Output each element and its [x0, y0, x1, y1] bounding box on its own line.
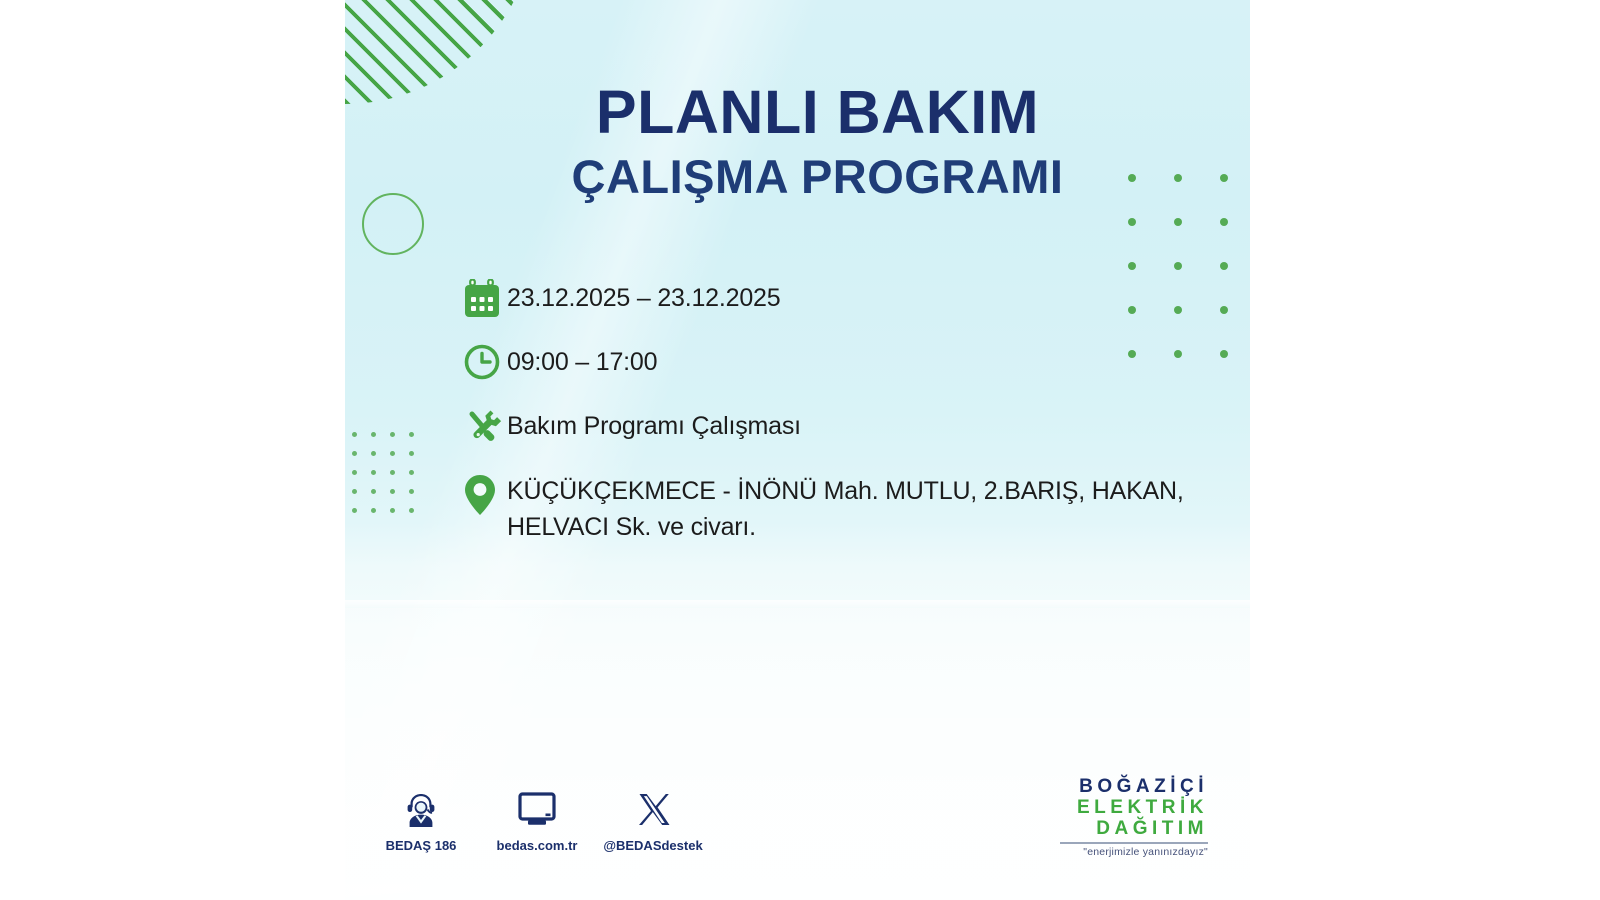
dot [409, 432, 414, 437]
location-pin-icon [463, 469, 507, 515]
info-row-address: KÜÇÜKÇEKMECE - İNÖNÜ Mah. MUTLU, 2.BARIŞ… [463, 469, 1203, 545]
footer-contacts: BEDAŞ 186 bedas.com.tr [385, 788, 689, 853]
brand-tagline: "enerjimizle yanınızdayız" [1060, 846, 1208, 858]
dot [1220, 306, 1228, 314]
info-row-time: 09:00 – 17:00 [463, 341, 1203, 387]
dot [371, 432, 376, 437]
dot [409, 489, 414, 494]
dot [1220, 262, 1228, 270]
info-row-date: 23.12.2025 – 23.12.2025 [463, 277, 1203, 323]
dot [352, 508, 357, 513]
dot [409, 451, 414, 456]
dot [1128, 218, 1136, 226]
dot [1174, 218, 1182, 226]
dot [371, 489, 376, 494]
dot [352, 470, 357, 475]
background-horizon-line [345, 600, 1250, 610]
dot [390, 432, 395, 437]
title-main: PLANLI BAKIM [385, 82, 1250, 143]
contact-call-center[interactable]: BEDAŞ 186 [385, 788, 457, 853]
brand-logo: BOĞAZİÇİ ELEKTRİK DAĞITIM "enerjimizle y… [1060, 776, 1208, 858]
dot [371, 508, 376, 513]
info-row-date-text: 23.12.2025 – 23.12.2025 [507, 277, 780, 315]
call-center-agent-icon [401, 788, 441, 830]
clock-icon [463, 341, 507, 387]
poster-panel: PLANLI BAKIM ÇALIŞMA PROGRAMI [345, 0, 1250, 900]
contact-website-label: bedas.com.tr [497, 838, 578, 853]
contact-x-handle-label: @BEDASdestek [603, 838, 702, 853]
info-row-address-text: KÜÇÜKÇEKMECE - İNÖNÜ Mah. MUTLU, 2.BARIŞ… [507, 469, 1203, 545]
info-row-worktype: Bakım Programı Çalışması [463, 405, 1203, 451]
contact-call-center-label: BEDAŞ 186 [386, 838, 457, 853]
x-twitter-icon [633, 788, 673, 830]
dot [1220, 218, 1228, 226]
brand-divider [1060, 842, 1208, 844]
dot [371, 470, 376, 475]
monitor-icon [516, 788, 558, 830]
dot [1128, 262, 1136, 270]
brand-line-bogazici: BOĞAZİÇİ [1060, 776, 1208, 797]
dot-grid-left-decoration [352, 432, 414, 513]
dot [409, 470, 414, 475]
dot [390, 508, 395, 513]
dot [390, 470, 395, 475]
dot [390, 489, 395, 494]
dot [1174, 262, 1182, 270]
brand-line-elektrik: ELEKTRİK [1060, 797, 1208, 818]
circle-outline-decoration [362, 193, 424, 255]
brand-line-dagitim: DAĞITIM [1060, 818, 1208, 839]
dot [1220, 350, 1228, 358]
tools-icon [463, 405, 507, 451]
contact-x-handle[interactable]: @BEDASdestek [617, 788, 689, 853]
dot [352, 432, 357, 437]
info-list: 23.12.2025 – 23.12.2025 09:00 – 17:00 [463, 277, 1203, 545]
poster-canvas: PLANLI BAKIM ÇALIŞMA PROGRAMI [0, 0, 1600, 900]
info-row-worktype-text: Bakım Programı Çalışması [507, 405, 801, 443]
contact-website[interactable]: bedas.com.tr [501, 788, 573, 853]
dot [371, 451, 376, 456]
dot [390, 451, 395, 456]
dot [352, 451, 357, 456]
page-title: PLANLI BAKIM ÇALIŞMA PROGRAMI [345, 82, 1250, 200]
calendar-icon [463, 277, 507, 323]
info-row-time-text: 09:00 – 17:00 [507, 341, 657, 379]
dot [352, 489, 357, 494]
dot [409, 508, 414, 513]
title-subtitle: ÇALIŞMA PROGRAMI [385, 153, 1250, 200]
